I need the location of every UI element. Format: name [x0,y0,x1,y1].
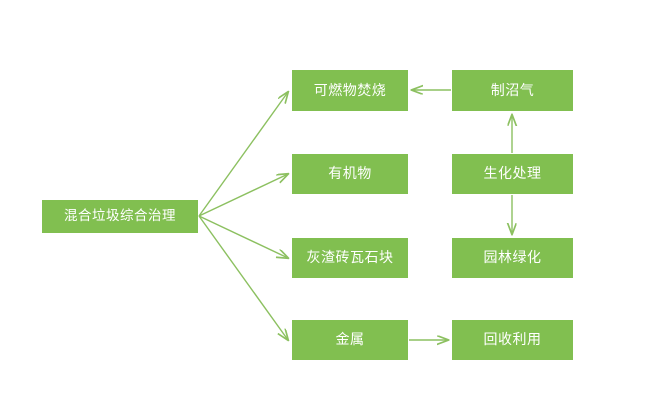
node-biochemical-treatment[interactable]: 生化处理 [452,154,573,194]
node-metal[interactable]: 金属 [292,320,408,360]
node-label: 生化处理 [484,167,542,181]
node-label: 回收利用 [484,333,542,347]
flowchart-canvas: 混合垃圾综合治理 可燃物焚烧 有机物 灰渣砖瓦石块 金属 制沼气 生化处理 园林… [0,0,648,416]
node-label: 灰渣砖瓦石块 [307,251,394,265]
node-organic-matter[interactable]: 有机物 [292,154,408,194]
edge-root-to-ash [199,216,288,258]
node-ash-bricks-tiles-stones[interactable]: 灰渣砖瓦石块 [292,238,408,278]
node-combustible-incineration[interactable]: 可燃物焚烧 [292,70,408,111]
node-label: 有机物 [328,167,372,181]
node-recycling-reuse[interactable]: 回收利用 [452,320,573,360]
edge-root-to-organic [199,174,288,216]
node-label: 可燃物焚烧 [314,84,387,98]
node-landscaping[interactable]: 园林绿化 [452,238,573,278]
node-label: 制沼气 [491,84,535,98]
node-label: 园林绿化 [484,251,542,265]
node-label: 混合垃圾综合治理 [64,210,176,224]
edge-root-to-metal [199,216,288,340]
edge-root-to-combustible [199,92,288,216]
node-label: 金属 [336,333,365,347]
node-biogas-production[interactable]: 制沼气 [452,70,573,111]
node-mixed-waste-treatment[interactable]: 混合垃圾综合治理 [42,200,198,233]
